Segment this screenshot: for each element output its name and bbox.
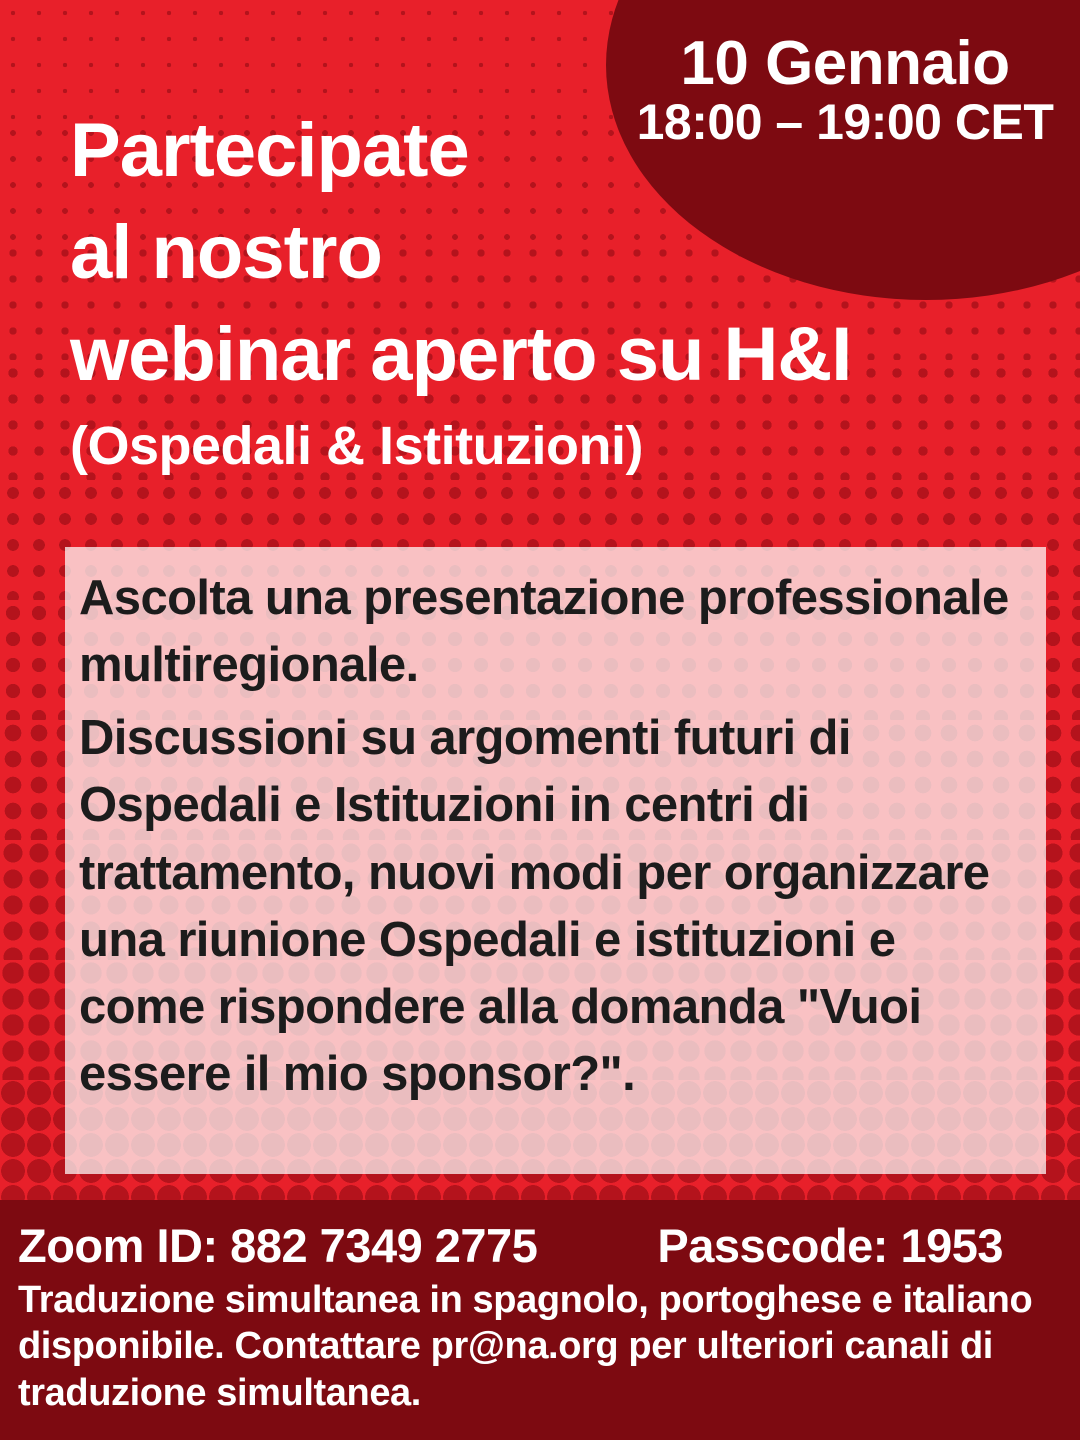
footer-bar: Zoom ID: 882 7349 2775 Passcode: 1953 Tr… bbox=[0, 1200, 1080, 1440]
zoom-id-label: Zoom ID: 882 7349 2775 bbox=[18, 1218, 537, 1273]
translation-note-line-3: traduzione simultanea. bbox=[18, 1370, 1066, 1416]
webinar-flyer: 10 Gennaio 18:00 – 19:00 CET Partecipate… bbox=[0, 0, 1080, 1440]
passcode-label: Passcode: 1953 bbox=[657, 1218, 1003, 1273]
body-text-panel: Ascolta una presentazione professionale … bbox=[65, 547, 1046, 1174]
translation-note-line-1: Traduzione simultanea in spagnolo, porto… bbox=[18, 1277, 1066, 1323]
date-time-label: 18:00 – 19:00 CET bbox=[620, 95, 1070, 150]
headline-block: Partecipate al nostro webinar aperto su … bbox=[70, 100, 1020, 482]
date-day-label: 10 Gennaio bbox=[620, 32, 1070, 95]
translation-note: Traduzione simultanea in spagnolo, porto… bbox=[18, 1277, 1066, 1416]
body-paragraph-1: Ascolta una presentazione professionale … bbox=[79, 565, 1032, 699]
headline-line-2: al nostro bbox=[70, 202, 1020, 304]
body-paragraph-2: Discussioni su argomenti futuri di Osped… bbox=[79, 705, 1032, 1108]
date-badge: 10 Gennaio 18:00 – 19:00 CET bbox=[620, 32, 1070, 150]
footer-credentials-row: Zoom ID: 882 7349 2775 Passcode: 1953 bbox=[18, 1218, 1066, 1273]
headline-subtitle: (Ospedali & Istituzioni) bbox=[70, 411, 1020, 481]
headline-line-3: webinar aperto su H&I bbox=[70, 304, 1020, 406]
translation-note-line-2: disponibile. Contattare pr@na.org per ul… bbox=[18, 1323, 1066, 1369]
